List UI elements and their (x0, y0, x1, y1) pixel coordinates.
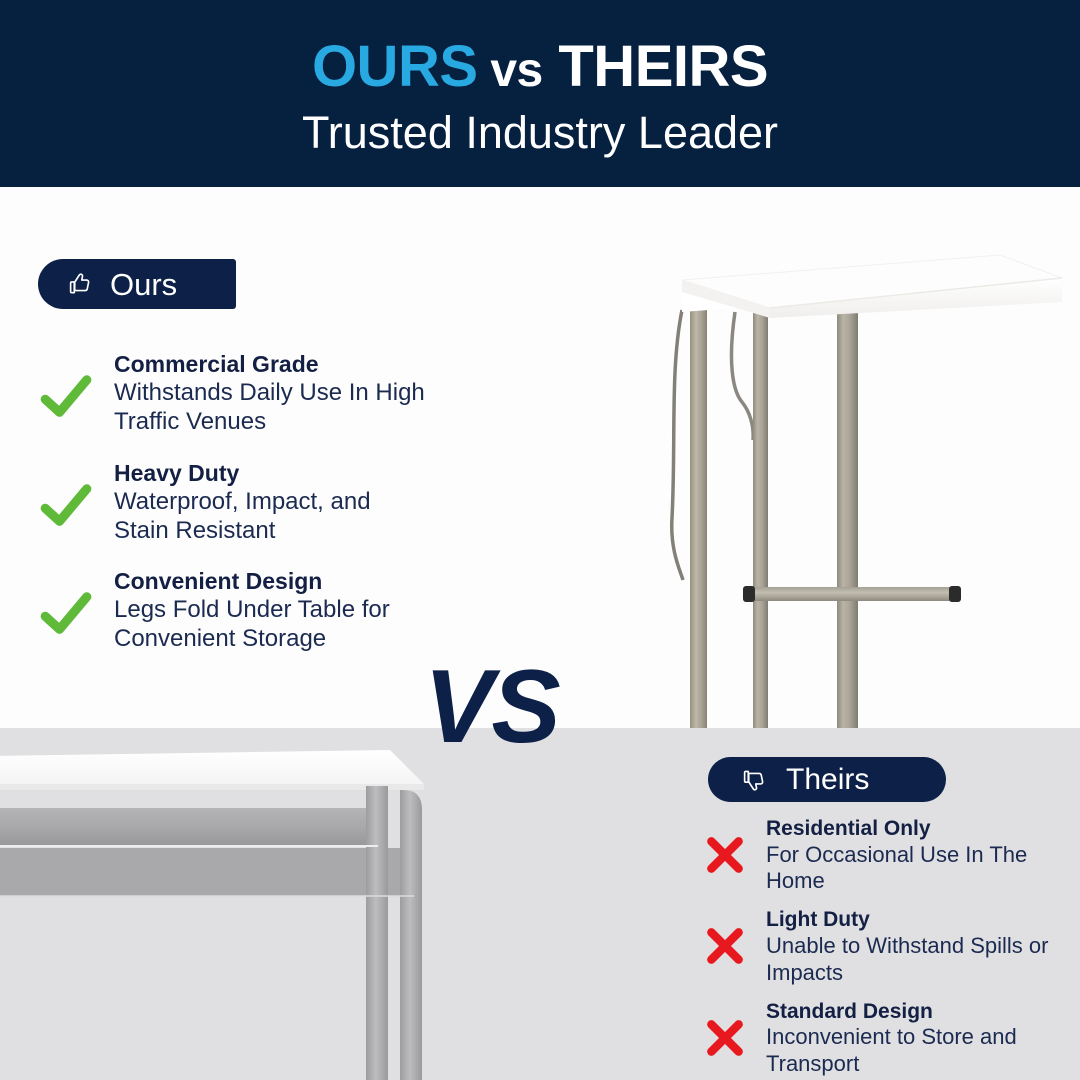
red-cross-icon (704, 925, 746, 967)
ours-product-image (650, 250, 1080, 728)
page-subtitle: Trusted Industry Leader (302, 110, 778, 155)
header-banner: OURS vs THEIRS Trusted Industry Leader (0, 0, 1080, 187)
feature-title: Convenient Design (114, 567, 426, 595)
list-item: Residential Only For Occasional Use In T… (700, 816, 1080, 895)
feature-title: Residential Only (766, 816, 1080, 842)
theirs-product-image (0, 728, 440, 1080)
list-item: Light Duty Unable to Withstand Spills or… (700, 907, 1080, 986)
page-title: OURS vs THEIRS (312, 38, 768, 96)
feature-text: Standard Design Inconvenient to Store an… (766, 999, 1080, 1078)
feature-title: Light Duty (766, 907, 1080, 933)
feature-text: Heavy Duty Waterproof, Impact, and Stain… (114, 459, 426, 546)
list-item: Convenient Design Legs Fold Under Table … (36, 567, 426, 654)
thumbs-down-icon (738, 765, 768, 795)
ours-badge-label: Ours (110, 269, 177, 300)
feature-text: Convenient Design Legs Fold Under Table … (114, 567, 426, 654)
feature-desc: Inconvenient to Store and Transport (766, 1024, 1080, 1078)
ours-feature-list: Commercial Grade Withstands Daily Use In… (36, 350, 426, 676)
green-check-icon (40, 481, 92, 533)
title-theirs: THEIRS (558, 34, 768, 99)
feature-desc: Legs Fold Under Table for Convenient Sto… (114, 595, 426, 654)
red-cross-icon (704, 834, 746, 876)
feature-desc: Unable to Withstand Spills or Impacts (766, 933, 1080, 987)
feature-title: Heavy Duty (114, 459, 426, 487)
feature-text: Light Duty Unable to Withstand Spills or… (766, 907, 1080, 986)
feature-text: Residential Only For Occasional Use In T… (766, 816, 1080, 895)
feature-title: Standard Design (766, 999, 1080, 1025)
title-vs (478, 44, 491, 97)
theirs-badge: Theirs (708, 757, 946, 802)
feature-desc: For Occasional Use In The Home (766, 842, 1080, 896)
green-check-icon (40, 589, 92, 641)
list-item: Standard Design Inconvenient to Store an… (700, 999, 1080, 1078)
feature-desc: Waterproof, Impact, and Stain Resistant (114, 487, 426, 546)
vs-divider-label: VS (424, 655, 559, 759)
feature-title: Commercial Grade (114, 350, 426, 378)
theirs-badge-label: Theirs (786, 765, 869, 795)
white-folding-table-illustration (650, 250, 1080, 728)
feature-text: Commercial Grade Withstands Daily Use In… (114, 350, 426, 437)
comparison-infographic: OURS vs THEIRS Trusted Industry Leader (0, 0, 1080, 1080)
list-item: Commercial Grade Withstands Daily Use In… (36, 350, 426, 437)
ours-badge: Ours (38, 259, 236, 309)
title-ours: OURS (312, 34, 478, 99)
theirs-feature-list: Residential Only For Occasional Use In T… (700, 816, 1080, 1080)
red-cross-icon (704, 1017, 746, 1059)
green-check-icon (40, 372, 92, 424)
list-item: Heavy Duty Waterproof, Impact, and Stain… (36, 459, 426, 546)
thumbs-up-icon (64, 269, 94, 299)
feature-desc: Withstands Daily Use In High Traffic Ven… (114, 378, 426, 437)
gray-frame-table-illustration (0, 728, 440, 1080)
